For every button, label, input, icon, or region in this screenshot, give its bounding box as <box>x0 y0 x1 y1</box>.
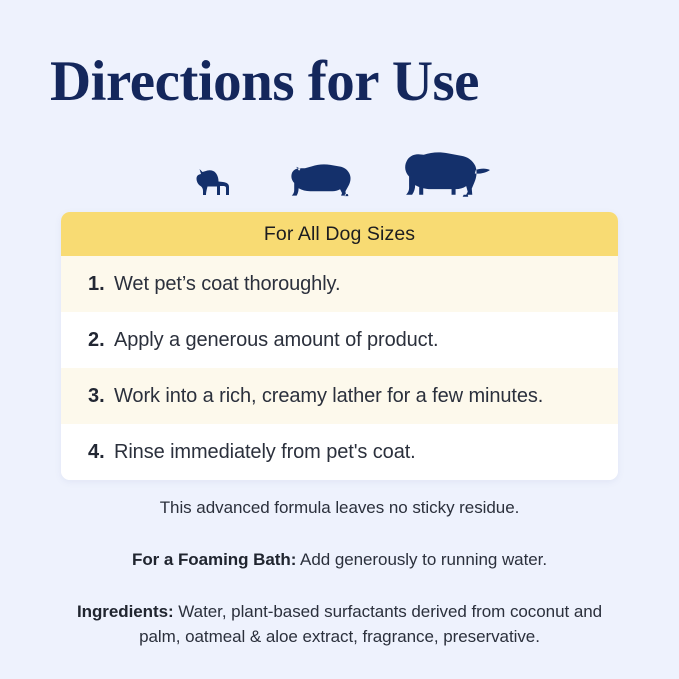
page-title: Directions for Use <box>50 53 479 110</box>
step-text: Apply a generous amount of product. <box>114 329 439 352</box>
residue-note: This advanced formula leaves no sticky r… <box>0 498 679 518</box>
step-number: 2. <box>88 329 108 352</box>
card-header: For All Dog Sizes <box>61 212 618 256</box>
directions-for-use-page: Directions for Use For All Dog Sizes 1. … <box>0 0 679 679</box>
step-text: Wet pet’s coat thoroughly. <box>114 273 340 296</box>
card-header-label: For All Dog Sizes <box>264 223 415 246</box>
step-row: 1. Wet pet’s coat thoroughly. <box>61 256 618 312</box>
step-row: 3. Work into a rich, creamy lather for a… <box>61 368 618 424</box>
step-row: 2. Apply a generous amount of product. <box>61 312 618 368</box>
small-dog-silhouette <box>191 167 233 200</box>
ingredients-text: Water, plant-based surfactants derived f… <box>139 602 602 646</box>
step-number: 4. <box>88 441 108 464</box>
ingredients-label: Ingredients: <box>77 602 174 621</box>
foaming-bath-text: Add generously to running water. <box>296 550 547 569</box>
step-number: 1. <box>88 273 108 296</box>
step-number: 3. <box>88 385 108 408</box>
directions-card: For All Dog Sizes 1. Wet pet’s coat thor… <box>61 212 618 480</box>
dog-size-illustration <box>0 138 679 200</box>
step-text: Work into a rich, creamy lather for a fe… <box>114 385 543 408</box>
footer-notes: This advanced formula leaves no sticky r… <box>0 498 679 649</box>
foaming-bath-label: For a Foaming Bath: <box>132 550 296 569</box>
ingredients-note: Ingredients: Water, plant-based surfacta… <box>0 600 679 649</box>
steps-list: 1. Wet pet’s coat thoroughly. 2. Apply a… <box>61 256 618 480</box>
large-dog-silhouette <box>401 146 493 200</box>
step-text: Rinse immediately from pet's coat. <box>114 441 416 464</box>
step-row: 4. Rinse immediately from pet's coat. <box>61 424 618 480</box>
medium-dog-silhouette <box>287 159 359 200</box>
foaming-bath-note: For a Foaming Bath: Add generously to ru… <box>0 550 679 570</box>
